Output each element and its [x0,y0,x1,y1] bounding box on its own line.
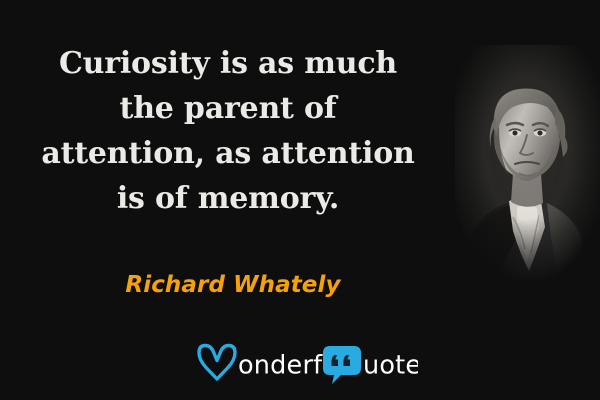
quote-line-1: Curiosity is as much [0,41,456,86]
author-name: Richard Whately [0,270,466,300]
quote-line-4: is of memory. [0,176,456,221]
quote-text: Curiosity is as much the parent of atten… [0,41,456,221]
portrait-image [455,45,600,280]
heart-w-icon [199,346,235,380]
author-portrait [455,45,600,280]
quote-line-2: the parent of [0,86,456,131]
quote-card: Curiosity is as much the parent of atten… [0,0,600,400]
logo-text-two: uote [363,351,418,381]
logo-graphic: onderful uote [190,340,418,390]
wonderfulquote-logo[interactable]: onderful uote [190,340,418,390]
quote-line-3: attention, as attention [0,131,456,176]
